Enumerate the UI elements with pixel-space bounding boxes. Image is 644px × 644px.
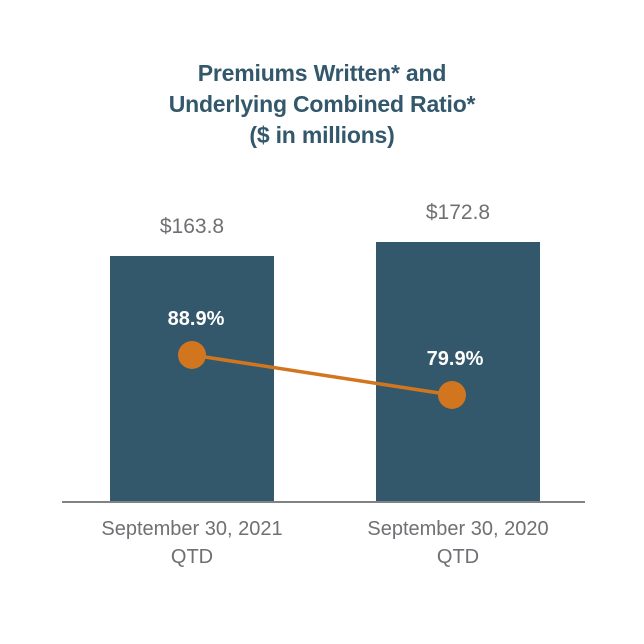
bar-value-label-0: $163.8 <box>110 215 274 239</box>
ratio-point-label-0: 88.9% <box>136 308 256 331</box>
bar-september-30-2020-qtd[interactable] <box>376 242 540 502</box>
chart-canvas: Premiums Written* and Underlying Combine… <box>0 0 644 644</box>
x-tick-label-0-line-2: QTD <box>62 543 322 571</box>
bar-september-30-2021-qtd[interactable] <box>110 256 274 502</box>
x-axis-line <box>62 501 585 503</box>
x-tick-label-1-line-2: QTD <box>328 543 588 571</box>
x-tick-label-0-line-1: September 30, 2021 <box>62 515 322 543</box>
plot-area: $163.8 $172.8 88.9% 79.9% September 30, … <box>0 0 644 644</box>
x-tick-label-0: September 30, 2021 QTD <box>62 515 322 571</box>
ratio-point-label-1: 79.9% <box>395 348 515 371</box>
x-tick-label-1-line-1: September 30, 2020 <box>328 515 588 543</box>
x-tick-label-1: September 30, 2020 QTD <box>328 515 588 571</box>
bar-value-label-1: $172.8 <box>376 201 540 225</box>
